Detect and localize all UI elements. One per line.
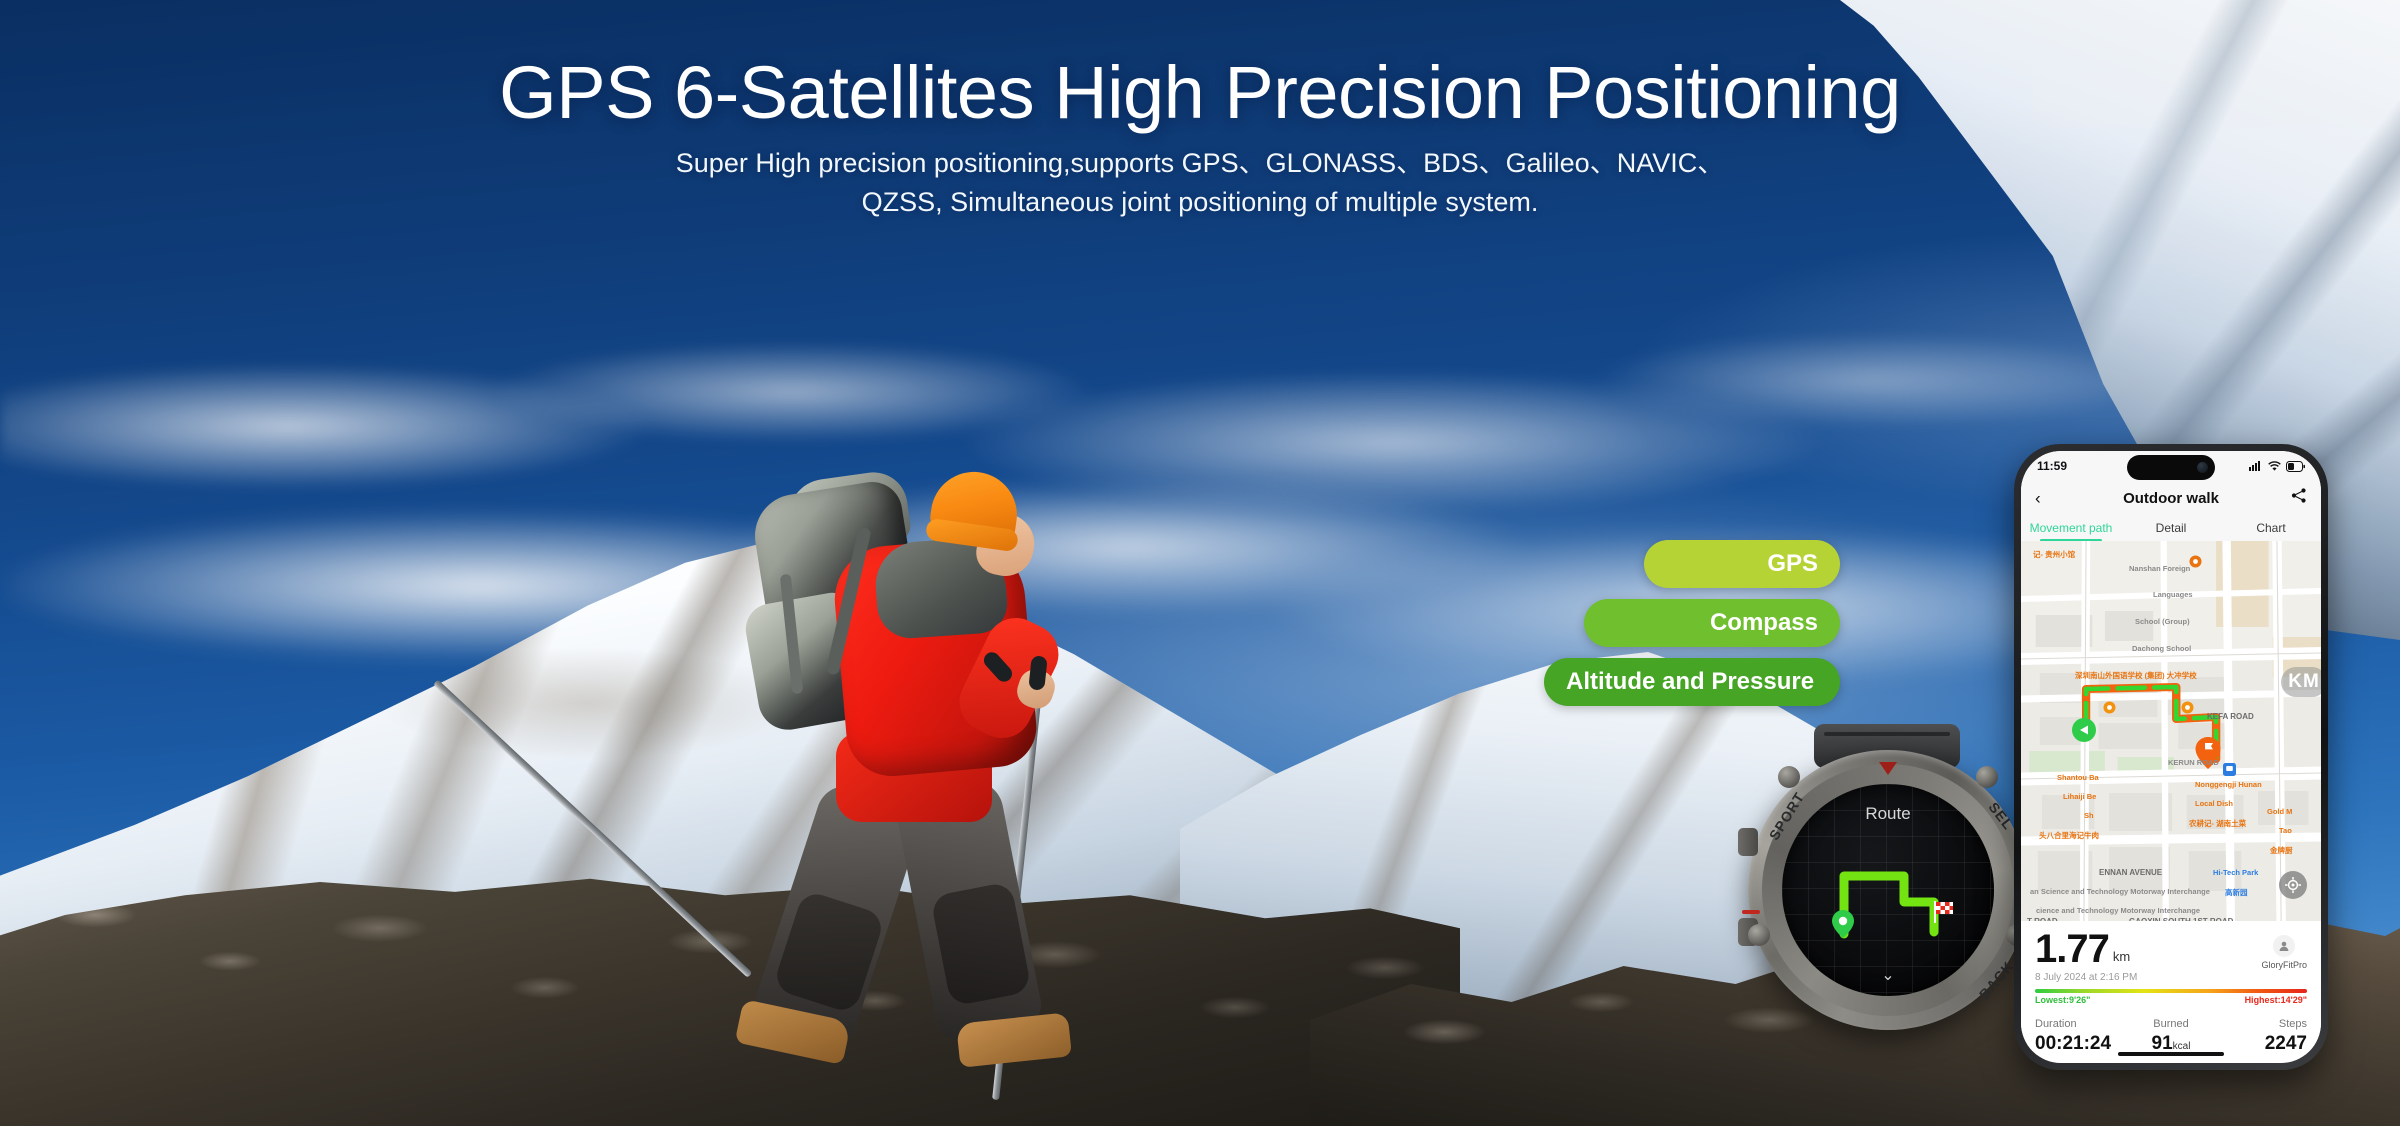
route-finish-flag-icon xyxy=(1932,900,1956,924)
map-label: Nanshan Foreign xyxy=(2129,564,2190,573)
tab-detail[interactable]: Detail xyxy=(2121,521,2221,535)
hero-subtitle-line-2: QZSS, Simultaneous joint positioning of … xyxy=(0,183,2400,221)
app-nav-bar: ‹ Outdoor walk xyxy=(2021,481,2321,515)
tab-bar: Movement path Detail Chart xyxy=(2021,515,2321,541)
app-attribution: GloryFitPro xyxy=(2261,935,2307,970)
hiker-illustration xyxy=(690,470,1110,1070)
stat-label: Burned xyxy=(2126,1018,2217,1030)
stat-steps: Steps 2247 xyxy=(2216,1018,2307,1055)
stat-unit: kcal xyxy=(2173,1041,2191,1052)
locate-icon xyxy=(2285,877,2301,893)
tab-movement-path[interactable]: Movement path xyxy=(2021,521,2121,535)
map-label: Languages xyxy=(2153,590,2193,599)
elevation-gradient-bar xyxy=(2035,989,2307,993)
watch-side-button-upper[interactable] xyxy=(1738,828,1758,856)
hero-subtitle: Super High precision positioning,support… xyxy=(0,144,2400,221)
map-label: Nonggengji Hunan xyxy=(2195,780,2262,789)
map-locate-button[interactable] xyxy=(2279,871,2307,899)
map-label: an Science and Technology Motorway Inter… xyxy=(2030,887,2210,896)
map-label: Gold M xyxy=(2267,807,2292,816)
map-label: Sh xyxy=(2084,811,2094,820)
map-poi-icon-2 xyxy=(2181,701,2194,714)
watch-red-accent xyxy=(1742,910,1760,914)
share-button[interactable] xyxy=(2291,488,2307,509)
map-metro-icon xyxy=(2223,763,2236,776)
stat-burned: Burned 91kcal xyxy=(2126,1018,2217,1055)
tab-chart[interactable]: Chart xyxy=(2221,521,2321,535)
battery-icon xyxy=(2286,461,2305,472)
activity-date: 8 July 2024 at 2:16 PM xyxy=(2035,972,2307,983)
elevation-lowest: Lowest:9'26" xyxy=(2035,995,2090,1005)
map-label: 头八合里海记牛肉 xyxy=(2039,830,2099,841)
map-label: Shantou Ba xyxy=(2057,773,2099,782)
map-label: Dachong School xyxy=(2132,644,2191,653)
watch-screw-bottom-left xyxy=(1748,924,1770,946)
elevation-highest: Highest:14'29" xyxy=(2245,995,2307,1005)
stat-label: Duration xyxy=(2035,1018,2126,1030)
map-start-marker-icon xyxy=(2071,717,2097,743)
smartphone: 11:59 xyxy=(2014,444,2328,1070)
map-label: 金牌厨 xyxy=(2270,845,2293,856)
stat-value: 2247 xyxy=(2216,1033,2307,1055)
watch-chevron-down-icon[interactable]: ⌄ xyxy=(1782,968,1994,984)
app-title: Outdoor walk xyxy=(2123,490,2219,507)
map-label: Local Dish xyxy=(2195,799,2233,808)
feature-badge-gps[interactable]: GPS xyxy=(1644,540,1840,588)
elevation-labels: Lowest:9'26" Highest:14'29" xyxy=(2035,995,2307,1005)
user-icon xyxy=(2278,940,2290,952)
stat-value: 00:21:24 xyxy=(2035,1033,2126,1055)
activity-summary: 1.77 km 8 July 2024 at 2:16 PM GloryFitP… xyxy=(2021,921,2321,1055)
map-label: KEFA ROAD xyxy=(2207,712,2254,721)
map-label: 农耕记- 湖南土菜 xyxy=(2189,818,2246,829)
map-label: Tao xyxy=(2279,826,2292,835)
avatar xyxy=(2273,935,2295,957)
watch-screen[interactable]: Route ⌄ xyxy=(1782,784,1994,996)
distance-value: 1.77 xyxy=(2035,931,2109,969)
share-icon xyxy=(2291,488,2307,504)
feature-badge-altitude-pressure[interactable]: Altitude and Pressure xyxy=(1544,658,1840,706)
page-title: GPS 6-Satellites High Precision Position… xyxy=(0,54,2400,132)
stat-duration: Duration 00:21:24 xyxy=(2035,1018,2126,1055)
status-bar: 11:59 xyxy=(2021,451,2321,481)
back-button[interactable]: ‹ xyxy=(2035,490,2041,507)
route-start-pin-icon xyxy=(1832,910,1854,938)
map-label: School (Group) xyxy=(2135,617,2190,626)
map-scale-badge: KM xyxy=(2281,667,2321,697)
watch-route-path xyxy=(1782,784,1994,996)
map-label: KERUN ROAD xyxy=(2168,758,2219,767)
hero-subtitle-line-1: Super High precision positioning,support… xyxy=(0,144,2400,182)
status-time: 11:59 xyxy=(2037,459,2067,473)
phone-screen: 11:59 xyxy=(2021,451,2321,1063)
signal-icon xyxy=(2249,461,2263,472)
map-label: 深圳南山外国语学校 (集团) 大冲学校 xyxy=(2075,670,2197,681)
map-label: 高新园 xyxy=(2225,887,2248,898)
feature-badge-compass[interactable]: Compass xyxy=(1584,599,1840,647)
feature-badge-list: GPS Compass Altitude and Pressure xyxy=(1544,540,1840,706)
home-indicator xyxy=(2118,1052,2224,1056)
stat-label: Steps xyxy=(2216,1018,2307,1030)
wifi-icon xyxy=(2268,461,2281,472)
promo-banner: GPS 6-Satellites High Precision Position… xyxy=(0,0,2400,1126)
map-poi-icon-3 xyxy=(2189,555,2202,568)
map-label: Hi-Tech Park xyxy=(2213,868,2258,877)
smartwatch: SPORT SEL BACK Route xyxy=(1742,738,2034,1038)
watch-red-marker-icon xyxy=(1879,762,1897,775)
map-label: Lihaiji Be xyxy=(2063,792,2096,801)
route-map[interactable]: KM 记- 贵州小馆Nanshan ForeignLanguagesSchool… xyxy=(2021,541,2321,921)
map-label: ENNAN AVENUE xyxy=(2099,868,2162,877)
map-label: 记- 贵州小馆 xyxy=(2033,549,2075,560)
distance-unit: km xyxy=(2113,949,2130,969)
app-name: GloryFitPro xyxy=(2261,960,2307,970)
stats-row: Duration 00:21:24 Burned 91kcal Steps 22… xyxy=(2035,1018,2307,1055)
status-indicators xyxy=(2249,461,2305,472)
map-poi-icon-1 xyxy=(2103,701,2116,714)
map-label: cience and Technology Motorway Interchan… xyxy=(2036,906,2200,915)
dynamic-island xyxy=(2127,455,2215,480)
hero-text: GPS 6-Satellites High Precision Position… xyxy=(0,54,2400,221)
